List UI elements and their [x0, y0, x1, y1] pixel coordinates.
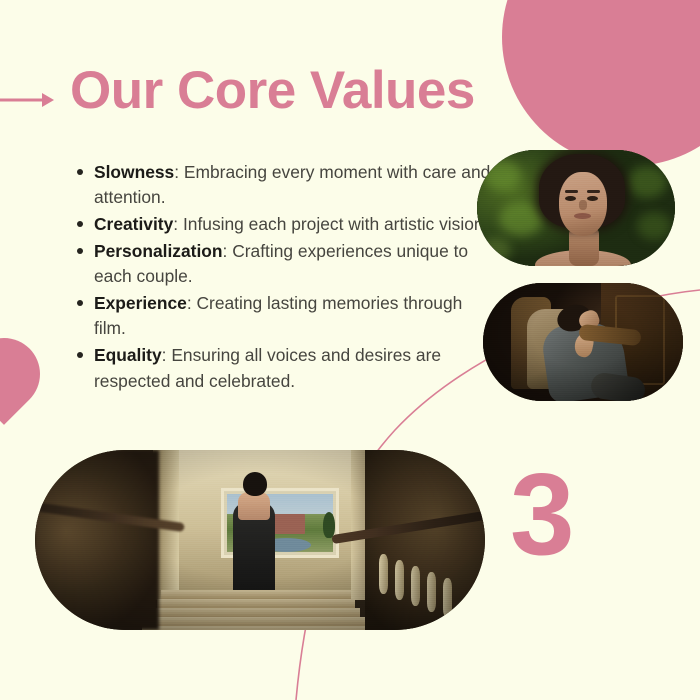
value-term: Personalization — [94, 241, 223, 261]
list-item: Creativity: Infusing each project with a… — [94, 212, 494, 237]
value-separator: : — [173, 214, 183, 234]
arrow-right-icon — [0, 88, 58, 112]
pink-circle-decoration — [502, 0, 700, 166]
slide-canvas: Our Core Values Slowness: Embracing ever… — [0, 0, 700, 700]
photo-person-reclining-armchair — [483, 283, 683, 401]
core-values-list: Slowness: Embracing every moment with ca… — [72, 160, 494, 396]
slide-number: 3 — [510, 456, 573, 572]
value-term: Experience — [94, 293, 187, 313]
photo-portrait-in-greenery — [477, 150, 675, 266]
pink-petal-decoration — [0, 323, 55, 425]
value-separator: : — [174, 162, 184, 182]
value-separator: : — [162, 345, 172, 365]
value-term: Creativity — [94, 214, 173, 234]
list-item: Personalization: Crafting experiences un… — [94, 239, 494, 289]
value-separator: : — [223, 241, 233, 261]
value-term: Equality — [94, 345, 162, 365]
page-title: Our Core Values — [70, 62, 475, 119]
photo-scene — [35, 450, 485, 630]
photo-scene — [483, 283, 683, 401]
list-item: Equality: Ensuring all voices and desire… — [94, 343, 494, 393]
photo-woman-on-staircase — [35, 450, 485, 630]
list-item: Slowness: Embracing every moment with ca… — [94, 160, 494, 210]
value-description: Infusing each project with artistic visi… — [183, 214, 488, 234]
photo-scene — [477, 150, 675, 266]
value-term: Slowness — [94, 162, 174, 182]
list-item: Experience: Creating lasting memories th… — [94, 291, 494, 341]
